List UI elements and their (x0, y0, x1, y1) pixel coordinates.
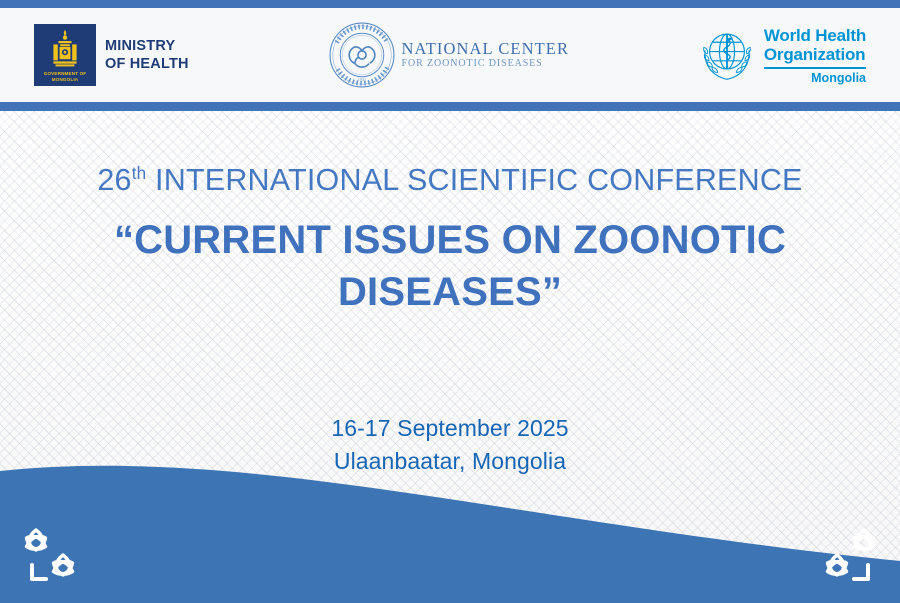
conference-ordinal-line: 26th INTERNATIONAL SCIENTIFIC CONFERENCE (0, 160, 900, 200)
who-name-line-1: World Health (764, 26, 866, 45)
ministry-crest-caption: GOVERNMENT OF MONGOLIA (34, 71, 96, 83)
top-accent-rule (0, 0, 900, 8)
who-name-line-2: Organization (764, 45, 866, 64)
title-block: 26th INTERNATIONAL SCIENTIFIC CONFERENCE… (0, 160, 900, 318)
who-divider-rule (764, 67, 866, 69)
national-center-title: NATIONAL CENTER (402, 40, 570, 57)
header-divider-rule (0, 102, 900, 111)
logo-header-band: GOVERNMENT OF MONGOLIA MINISTRY OF HEALT… (0, 8, 900, 102)
who-emblem-icon (698, 26, 756, 84)
who-logo: World Health Organization Mongolia (698, 26, 866, 84)
crest-caption-line-2: MONGOLIA (52, 77, 78, 82)
zoonotic-seal-icon: 1931 (328, 21, 396, 89)
soyombo-emblem-icon: GOVERNMENT OF MONGOLIA (34, 24, 96, 86)
ministry-of-health-label: MINISTRY OF HEALTH (105, 37, 189, 73)
ordinal-suffix: th (132, 164, 147, 183)
event-dates: 16-17 September 2025 (0, 412, 900, 445)
mongolian-knot-ornament-right (804, 523, 884, 589)
event-type-label: INTERNATIONAL SCIENTIFIC CONFERENCE (146, 163, 802, 197)
conference-title-slide: GOVERNMENT OF MONGOLIA MINISTRY OF HEALT… (0, 0, 900, 603)
mongolian-knot-ornament-left (16, 523, 96, 589)
bottom-wave-shape (0, 463, 900, 603)
who-country-label: Mongolia (764, 72, 866, 85)
conference-theme-title: “CURRENT ISSUES ON ZOONOTIC DISEASES” (0, 214, 900, 318)
ordinal-number: 26 (97, 163, 131, 197)
seal-year: 1931 (357, 77, 365, 82)
crest-caption-line-1: GOVERNMENT OF (44, 71, 87, 76)
ministry-of-health-logo: GOVERNMENT OF MONGOLIA MINISTRY OF HEALT… (34, 24, 189, 86)
national-center-subtitle: FOR ZOONOTIC DISEASES (402, 59, 570, 70)
national-center-logo: 1931 NATIONAL CENTER FOR ZOONOTIC DISEAS… (328, 21, 570, 89)
ministry-name-line-2: OF HEALTH (105, 55, 189, 73)
ministry-name-line-1: MINISTRY (105, 37, 189, 55)
